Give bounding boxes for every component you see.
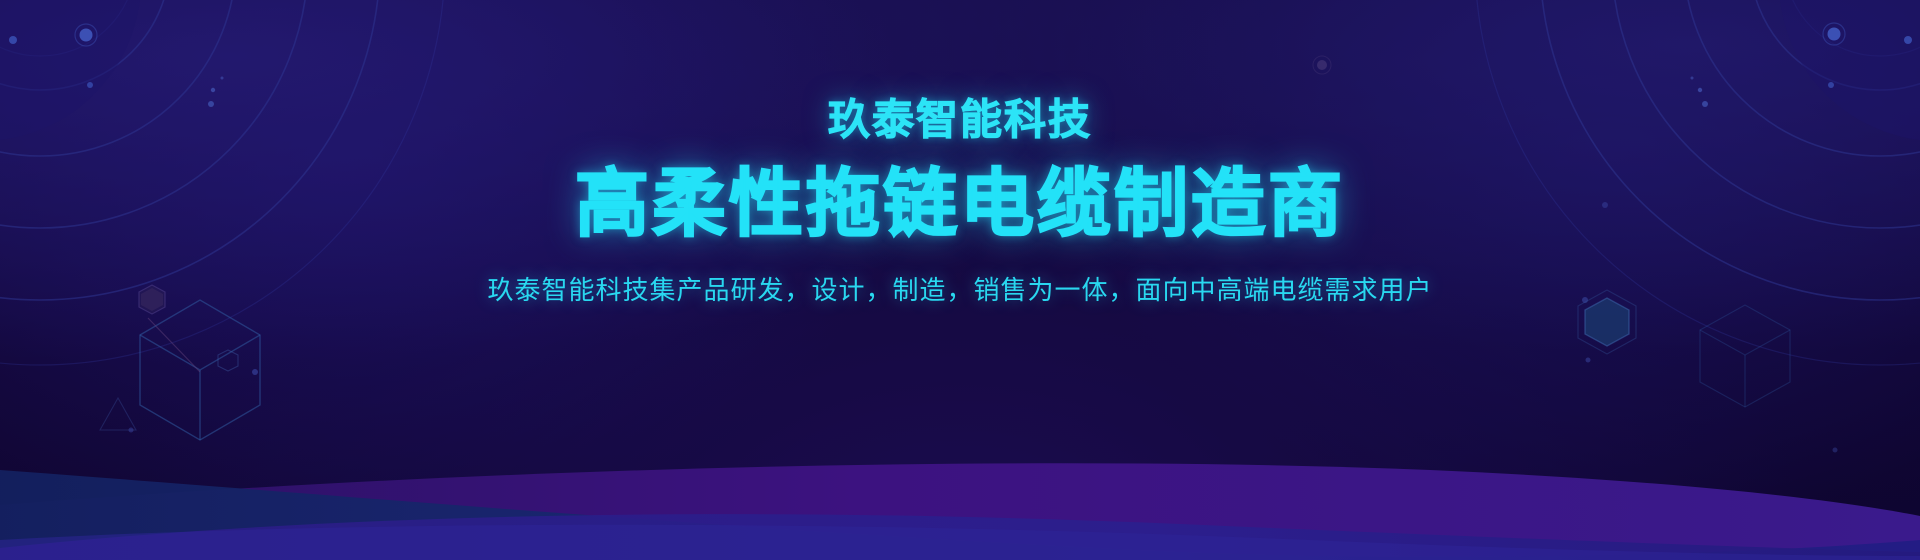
background-decoration-layer: [0, 0, 1920, 560]
hero-banner: 玖泰智能科技 高柔性拖链电缆制造商 玖泰智能科技集产品研发，设计，制造，销售为一…: [0, 0, 1920, 560]
hexagon-outline-left: [139, 285, 165, 314]
